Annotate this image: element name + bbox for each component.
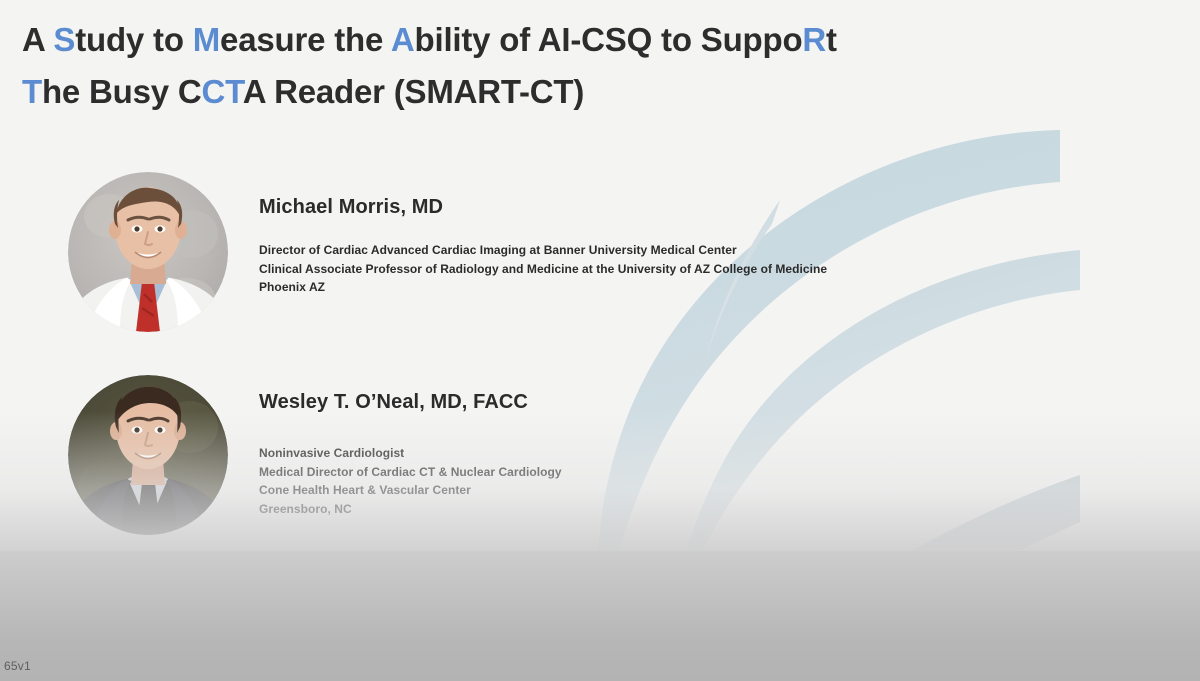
- title-segment-3: M: [193, 21, 220, 58]
- credential-line: Noninvasive Cardiologist: [259, 444, 959, 463]
- speaker-text: Michael Morris, MD Director of Cardiac A…: [259, 172, 959, 297]
- version-code-label: 65v1: [4, 659, 31, 673]
- title-segment-7: R: [802, 21, 826, 58]
- title-segment-2: tudy to: [75, 21, 193, 58]
- title-segment-4: easure the: [220, 21, 391, 58]
- speaker-credentials: Director of Cardiac Advanced Cardiac Ima…: [259, 241, 959, 297]
- title-segment-8: t: [826, 21, 837, 58]
- player-bottom-band: 65v1: [0, 551, 1200, 681]
- title-segment-2: CT: [202, 73, 243, 110]
- title-segment-0: A: [22, 21, 53, 58]
- credential-line: Medical Director of Cardiac CT & Nuclear…: [259, 463, 959, 482]
- speaker-name: Michael Morris, MD: [259, 196, 959, 219]
- page-title: A Study to Measure the Ability of AI-CSQ…: [22, 14, 1142, 118]
- credential-line: Director of Cardiac Advanced Cardiac Ima…: [259, 241, 959, 260]
- title-line-2: The Busy CCTA Reader (SMART-CT): [22, 66, 1142, 118]
- title-segment-0: T: [22, 73, 42, 110]
- avatar: [68, 375, 228, 535]
- credential-line: Clinical Associate Professor of Radiolog…: [259, 260, 959, 279]
- portrait-michael-morris-image: [68, 172, 228, 332]
- avatar: [68, 172, 228, 332]
- credential-line: Phoenix AZ: [259, 278, 959, 297]
- title-segment-1: he Busy C: [42, 73, 202, 110]
- presentation-slide: A Study to Measure the Ability of AI-CSQ…: [0, 0, 1200, 681]
- credential-line: Cone Health Heart & Vascular Center: [259, 481, 959, 500]
- credential-line: Greensboro, NC: [259, 500, 959, 519]
- title-segment-1: S: [53, 21, 75, 58]
- title-segment-3: A Reader (SMART-CT): [243, 73, 585, 110]
- title-line-1: A Study to Measure the Ability of AI-CSQ…: [22, 14, 1142, 66]
- title-segment-5: A: [391, 21, 415, 58]
- portrait-wesley-oneal-image: [68, 375, 228, 535]
- speaker-text: Wesley T. O’Neal, MD, FACC Noninvasive C…: [259, 375, 959, 518]
- speaker-name: Wesley T. O’Neal, MD, FACC: [259, 391, 959, 414]
- speaker-credentials: Noninvasive Cardiologist Medical Directo…: [259, 444, 959, 518]
- title-segment-6: bility of AI-CSQ to Suppo: [415, 21, 803, 58]
